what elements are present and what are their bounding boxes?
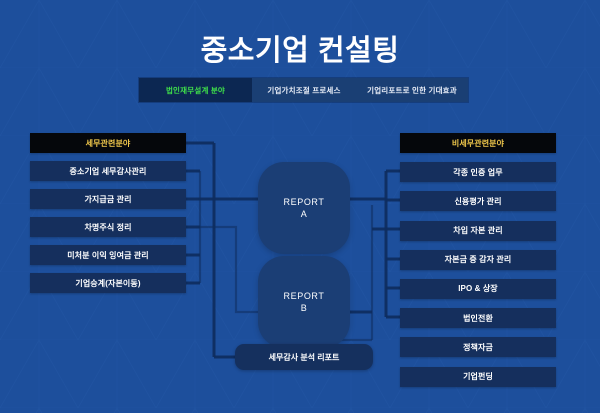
list-item[interactable]: 기업펀딩	[400, 367, 556, 387]
list-item[interactable]: 정책자금	[400, 337, 556, 357]
tab-bar: 법인재무설계 분야 기업가치조절 프로세스 기업리포트로 인한 기대효과	[139, 78, 468, 102]
list-item[interactable]: 자본금 증 감자 관리	[400, 250, 556, 270]
column-header-tax-related: 세무관련분야	[30, 133, 186, 153]
tax-related-column: 세무관련분야 중소기업 세무감사관리 가지급금 관리 차명주식 정리 미처분 이…	[30, 133, 186, 301]
report-a-letter: A	[301, 208, 308, 220]
tab-value-adjustment-process[interactable]: 기업가치조절 프로세스	[252, 78, 356, 102]
tab-report-expected-effects[interactable]: 기업리포트로 인한 기대효과	[356, 78, 468, 102]
list-item[interactable]: 차입 자본 관리	[400, 221, 556, 241]
list-item[interactable]: 법인전환	[400, 308, 556, 328]
list-item[interactable]: 신용평가 관리	[400, 191, 556, 211]
list-item[interactable]: 차명주식 정리	[30, 217, 186, 237]
list-item[interactable]: 중소기업 세무감사관리	[30, 161, 186, 181]
column-header-non-tax-related: 비세무관련분야	[400, 133, 556, 153]
page-title: 중소기업 컨설팅	[0, 31, 600, 71]
list-item[interactable]: 기업승계(자본이동)	[30, 273, 186, 293]
list-item[interactable]: 각종 인증 업무	[400, 162, 556, 182]
list-item[interactable]: 미처분 이익 잉여금 관리	[30, 245, 186, 265]
non-tax-related-column: 비세무관련분야 각종 인증 업무 신용평가 관리 차입 자본 관리 자본금 증 …	[400, 133, 556, 396]
report-b-label: REPORT	[284, 290, 325, 302]
report-b-letter: B	[301, 302, 308, 314]
slide-canvas: 중소기업 컨설팅 법인재무설계 분야 기업가치조절 프로세스 기업리포트로 인한…	[0, 0, 600, 413]
list-item[interactable]: 가지급금 관리	[30, 189, 186, 209]
list-item[interactable]: IPO & 상장	[400, 279, 556, 299]
summary-report-pill[interactable]: 세무감사 분석 리포트	[235, 344, 373, 370]
report-node-b[interactable]: REPORT B	[258, 256, 350, 348]
report-a-label: REPORT	[284, 196, 325, 208]
report-node-a[interactable]: REPORT A	[258, 162, 350, 254]
tab-corporate-financial-planning[interactable]: 법인재무설계 분야	[139, 78, 252, 102]
